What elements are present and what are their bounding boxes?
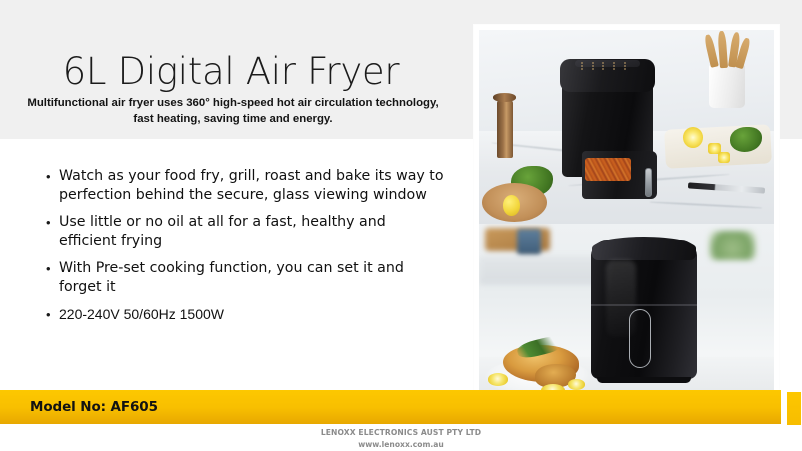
model-number-label: Model No: AF605 bbox=[30, 399, 158, 415]
background-plant bbox=[709, 231, 756, 260]
company-website[interactable]: www.lenoxx.com.au bbox=[0, 440, 802, 449]
lemon-wedge bbox=[568, 379, 586, 390]
page-subtitle: Multifunctional air fryer uses 360° high… bbox=[24, 96, 442, 127]
lemon-wedge bbox=[718, 152, 730, 163]
bullet-dot-icon: • bbox=[46, 259, 59, 278]
pepper-mill-knob bbox=[493, 93, 516, 101]
list-item: • Watch as your food fry, grill, roast a… bbox=[46, 167, 446, 204]
air-fryer-basket-drawer bbox=[582, 151, 657, 199]
list-item-label: 220-240V 50/60Hz 1500W bbox=[59, 305, 446, 324]
company-name: LENOXX ELECTRONICS AUST PTY LTD bbox=[0, 428, 802, 437]
bullet-dot-icon: • bbox=[46, 305, 59, 324]
drawer-handle bbox=[645, 168, 652, 198]
product-photo-top bbox=[479, 30, 774, 224]
list-item-label: Use little or no oil at all for a fast, … bbox=[59, 213, 446, 250]
air-fryer-top-unit bbox=[562, 69, 653, 178]
led-display-icon bbox=[581, 62, 634, 66]
footer: LENOXX ELECTRONICS AUST PTY LTD www.leno… bbox=[0, 428, 802, 449]
background-jar bbox=[517, 229, 541, 254]
product-slide: 6L Digital Air Fryer Multifunctional air… bbox=[0, 0, 802, 451]
sweet-potato-fries bbox=[585, 158, 631, 181]
marble-vein bbox=[650, 201, 762, 208]
air-fryer-feet bbox=[597, 377, 690, 383]
list-item: • 220-240V 50/60Hz 1500W bbox=[46, 305, 446, 324]
product-photo-bottom bbox=[479, 224, 774, 404]
air-fryer-lid bbox=[560, 59, 655, 92]
list-item: • Use little or no oil at all for a fast… bbox=[46, 213, 446, 250]
list-item-label: Watch as your food fry, grill, roast and… bbox=[59, 167, 446, 204]
accent-block-right bbox=[787, 392, 801, 425]
drawer-seam bbox=[591, 304, 697, 306]
list-item-label: With Pre-set cooking function, you can s… bbox=[59, 259, 446, 296]
pepper-mill bbox=[497, 100, 513, 158]
air-fryer-top-cover bbox=[592, 237, 696, 259]
bullet-dot-icon: • bbox=[46, 213, 59, 232]
feature-list: • Watch as your food fry, grill, roast a… bbox=[46, 167, 446, 333]
product-image-panel bbox=[474, 25, 779, 409]
list-item: • With Pre-set cooking function, you can… bbox=[46, 259, 446, 296]
page-title: 6L Digital Air Fryer bbox=[0, 50, 462, 93]
photo-stack bbox=[479, 30, 774, 404]
utensil-holder bbox=[709, 65, 744, 108]
drawer-handle-outline bbox=[629, 309, 650, 367]
air-fryer-bottom-unit bbox=[591, 240, 697, 379]
bullet-dot-icon: • bbox=[46, 167, 59, 186]
